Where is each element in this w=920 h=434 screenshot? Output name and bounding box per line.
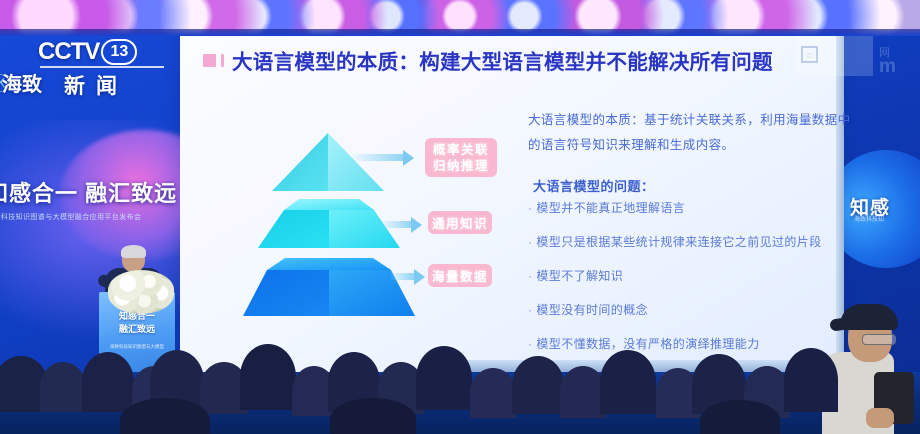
arrow-head <box>411 217 422 233</box>
left-banner-headline: 知感合一 融汇致远 <box>0 176 182 208</box>
left-banner: 知感合一 融汇致远 海致科技知识图谱与大模型融合应用平台发布会 <box>0 176 182 222</box>
pyramid-label-bottom-line1: 海量数据 <box>432 266 488 285</box>
arrow-line <box>352 154 404 161</box>
arrow-line <box>382 221 412 228</box>
list-item-label: 模型并不能真正地理解语言 <box>536 201 685 215</box>
list-item: ·模型只是根据某些统计规律来连接它之前见过的片段 <box>528 233 898 250</box>
stage-light-bar <box>0 0 920 36</box>
audience-head <box>40 362 86 412</box>
audience-head <box>600 350 656 414</box>
arrow-right-icon-middle <box>382 219 422 230</box>
cameraman-glasses <box>862 334 896 345</box>
pyramid-label-middle: 通用知识 <box>428 211 492 234</box>
list-bullet-icon: · <box>528 201 532 215</box>
pyramid-label-middle-line1: 通用知识 <box>432 213 488 232</box>
app-icon: ⌂ <box>801 46 818 63</box>
list-item: ·模型不了解知识 <box>528 267 898 284</box>
slide-title-row: 大语言模型的本质：构建大型语言模型并不能解决所有问题 <box>203 45 773 75</box>
arrow-right-icon-top <box>352 152 414 163</box>
pyramid-label-top: 概率关联 归纳推理 <box>425 138 497 177</box>
list-item-label: 模型没有时间的概念 <box>536 303 648 317</box>
channel-logo-underline <box>40 66 164 68</box>
audience-head <box>512 356 564 414</box>
audience-head <box>120 398 210 434</box>
cameraman-hand <box>866 408 894 428</box>
slide-lead-paragraph: 大语言模型的本质：基于统计关联关系，利用海量数据中的语言符号知识来理解和生成内容… <box>528 108 858 158</box>
arrow-head <box>403 150 414 166</box>
list-bullet-icon: · <box>528 303 532 317</box>
channel-logo-text: CCTV <box>38 38 99 66</box>
sponsor-logo: 海致 <box>2 68 42 97</box>
audience-head <box>416 346 472 410</box>
arrow-right-icon-bottom <box>390 271 425 282</box>
pyramid-tier-middle <box>258 196 400 251</box>
arrow-head <box>414 269 425 285</box>
list-item-label: 模型不懂数据，没有严格的演绎推理能力 <box>536 337 759 351</box>
podium-flower-arrangement <box>108 270 174 314</box>
pyramid-tier-top <box>272 133 384 195</box>
cameraman <box>822 296 920 434</box>
slide-problems-heading: 大语言模型的问题： <box>533 176 655 195</box>
list-item-label: 模型只是根据某些统计规律来连接它之前见过的片段 <box>536 235 821 249</box>
podium-headline-line2: 融汇致远 <box>99 323 175 336</box>
broadcast-frame: 知感合一 融汇致远 海致科技知识图谱与大模型融合应用平台发布会 知感 海致科技知… <box>0 0 920 434</box>
list-bullet-icon: · <box>528 337 532 351</box>
slide-title: 大语言模型的本质：构建大型语言模型并不能解决所有问题 <box>232 45 773 75</box>
audience-head <box>82 352 134 412</box>
channel-number-badge: 13 <box>101 39 137 65</box>
bullet-square-icon <box>203 54 216 67</box>
program-name: 新闻 <box>64 70 128 100</box>
pyramid-label-bottom: 海量数据 <box>428 264 492 287</box>
channel-logo: CCTV 13 <box>38 38 137 66</box>
list-bullet-icon: · <box>528 235 532 249</box>
left-banner-subtitle: 海致科技知识图谱与大模型融合应用平台发布会 <box>0 212 182 222</box>
watermark-line2: m <box>879 56 896 78</box>
podium-subtitle: 海致科技知识图谱与大模型 <box>99 344 175 350</box>
list-bullet-icon: · <box>528 269 532 283</box>
arrow-line <box>390 273 415 280</box>
pyramid-tier-bottom <box>243 256 415 318</box>
audience-head <box>700 400 780 434</box>
speaker-hair <box>121 245 146 258</box>
cameraman-cap <box>840 304 898 330</box>
audience-head <box>240 344 296 410</box>
audience-head <box>470 368 516 418</box>
audience-head <box>330 398 416 434</box>
pyramid-label-top-line2: 归纳推理 <box>433 158 489 174</box>
list-item: ·模型并不能真正地理解语言 <box>528 199 898 216</box>
audience-head <box>784 348 838 412</box>
bullet-bar-icon <box>221 54 224 67</box>
list-item-label: 模型不了解知识 <box>536 269 623 283</box>
pyramid-label-top-line1: 概率关联 <box>433 142 489 158</box>
